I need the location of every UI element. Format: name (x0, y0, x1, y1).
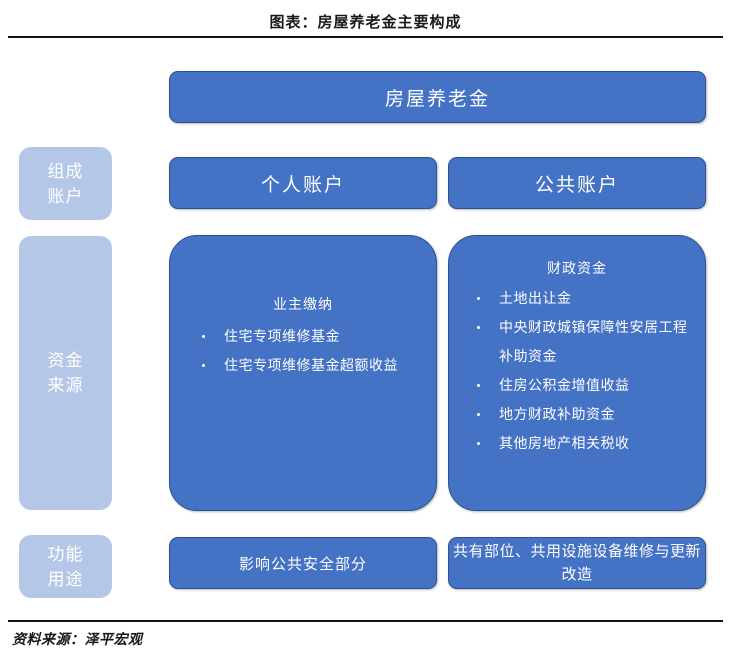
sidebar-item-funding-source[interactable]: 资金 来源 (19, 236, 112, 510)
node-public-usage[interactable]: 共有部位、共用设施设备维修与更新改造 (448, 537, 706, 589)
list-item: 住宅专项维修基金 (198, 322, 418, 351)
source-note: 资料来源：泽平宏观 (12, 628, 143, 650)
sidebar-item-function-usage-label: 功能 用途 (48, 542, 84, 592)
sidebar-item-funding-source-label: 资金 来源 (48, 348, 84, 398)
page-title: 图表：房屋养老金主要构成 (0, 13, 731, 33)
public-funding-heading: 财政资金 (449, 258, 705, 278)
list-item: 其他房地产相关税收 (473, 429, 695, 458)
sidebar-item-composition-label: 组成 账户 (48, 159, 84, 209)
node-personal-usage[interactable]: 影响公共安全部分 (169, 537, 437, 589)
sidebar-label-line-1: 资金 (48, 348, 84, 373)
sidebar-item-composition[interactable]: 组成 账户 (19, 147, 112, 220)
node-public-funding-source[interactable]: 财政资金 土地出让金 中央财政城镇保障性安居工程补助资金 住房公积金增值收益 地… (448, 235, 706, 511)
personal-funding-list: 住宅专项维修基金 住宅专项维修基金超额收益 (170, 314, 436, 380)
sidebar-label-line-2: 账户 (48, 184, 84, 209)
footer-divider (8, 620, 723, 622)
sidebar-label-line-2: 用途 (48, 567, 84, 592)
list-item: 中央财政城镇保障性安居工程补助资金 (473, 313, 695, 371)
list-item: 住房公积金增值收益 (473, 371, 695, 400)
list-item: 地方财政补助资金 (473, 400, 695, 429)
sidebar-item-function-usage[interactable]: 功能 用途 (19, 535, 112, 598)
sidebar-label-line-1: 组成 (48, 159, 84, 184)
list-item: 住宅专项维修基金超额收益 (198, 351, 418, 380)
header-divider (8, 36, 723, 38)
node-personal-account[interactable]: 个人账户 (169, 157, 437, 209)
node-personal-funding-source[interactable]: 业主缴纳 住宅专项维修基金 住宅专项维修基金超额收益 (169, 235, 437, 511)
public-funding-list: 土地出让金 中央财政城镇保障性安居工程补助资金 住房公积金增值收益 地方财政补助… (449, 278, 705, 458)
node-housing-pension-root[interactable]: 房屋养老金 (169, 71, 706, 123)
node-public-account[interactable]: 公共账户 (448, 157, 706, 209)
sidebar-label-line-1: 功能 (48, 542, 84, 567)
list-item: 土地出让金 (473, 284, 695, 313)
personal-funding-heading: 业主缴纳 (170, 294, 436, 314)
sidebar-label-line-2: 来源 (48, 373, 84, 398)
